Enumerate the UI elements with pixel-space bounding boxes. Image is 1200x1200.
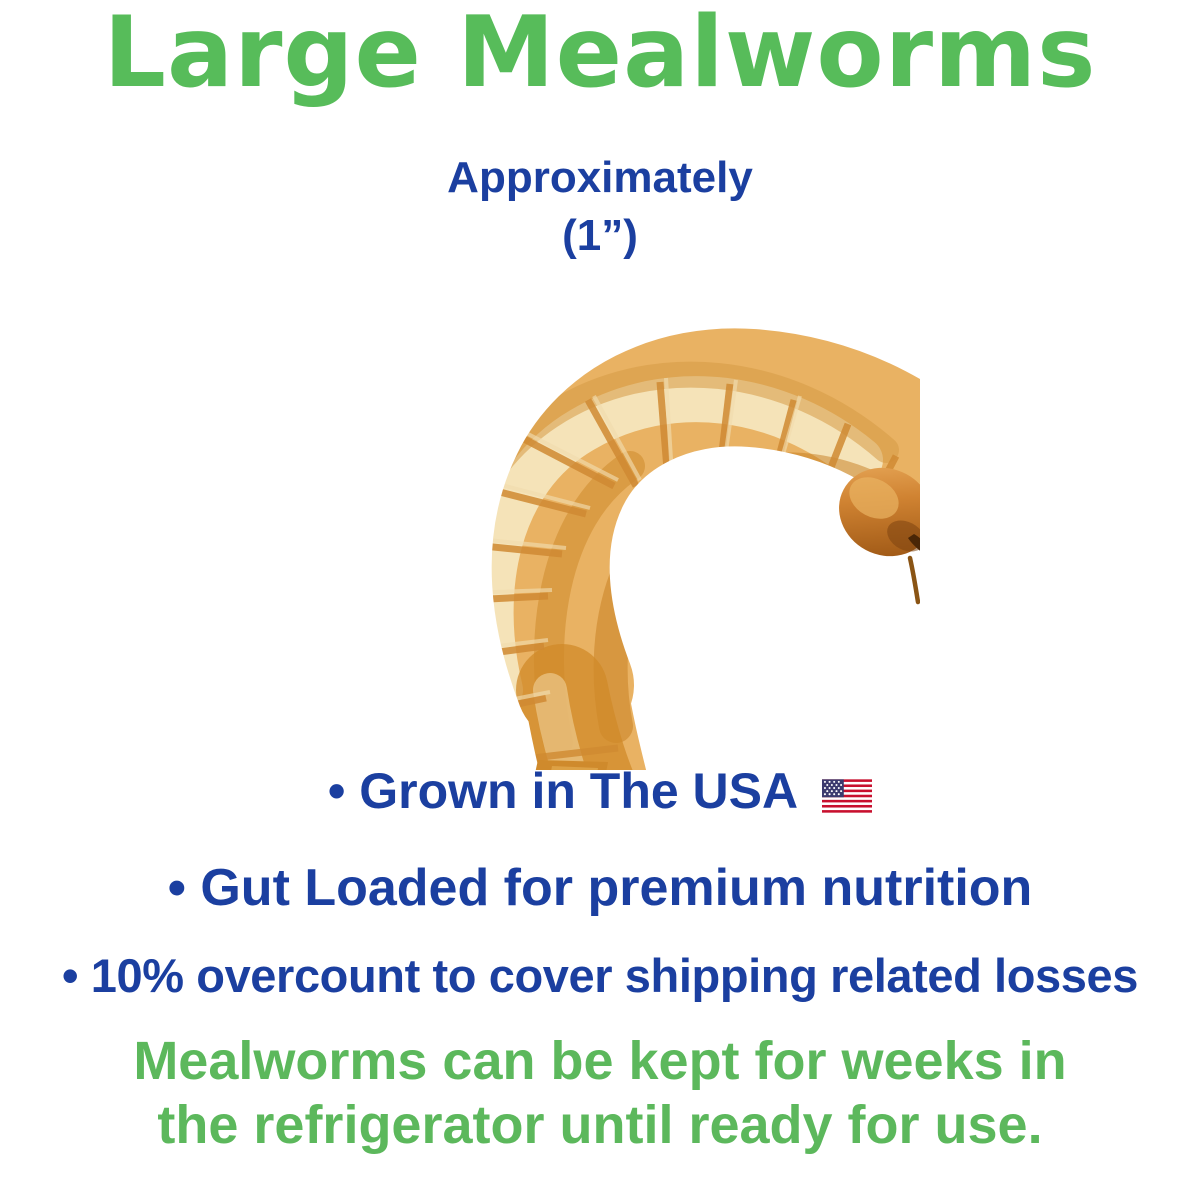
feature-text: Gut Loaded for premium nutrition bbox=[200, 859, 1032, 917]
feature-text: Grown in The USA bbox=[359, 763, 796, 819]
storage-note: Mealworms can be kept for weeks in the r… bbox=[0, 1030, 1200, 1157]
feature-text: 10% overcount to cover shipping related … bbox=[91, 949, 1138, 1002]
mealworm-illustration bbox=[300, 290, 920, 770]
feature-bullet-grown-in-usa: • Grown in The USA bbox=[0, 762, 1200, 820]
storage-note-line-2: the refrigerator until ready for use. bbox=[0, 1094, 1200, 1158]
product-info-graphic: Large Mealworms Approximately (1”) bbox=[0, 0, 1200, 1200]
bullet-marker: • bbox=[62, 949, 78, 1002]
bullet-marker: • bbox=[328, 763, 346, 819]
approx-label: Approximately bbox=[0, 148, 1200, 207]
usa-flag-icon bbox=[822, 779, 872, 813]
approx-size-value: (1”) bbox=[0, 206, 1200, 265]
feature-bullet-gut-loaded: • Gut Loaded for premium nutrition bbox=[0, 858, 1200, 918]
storage-note-line-1: Mealworms can be kept for weeks in bbox=[0, 1030, 1200, 1094]
page-title: Large Mealworms bbox=[0, 4, 1200, 102]
bullet-marker: • bbox=[168, 859, 186, 917]
feature-bullet-overcount: • 10% overcount to cover shipping relate… bbox=[0, 948, 1200, 1003]
